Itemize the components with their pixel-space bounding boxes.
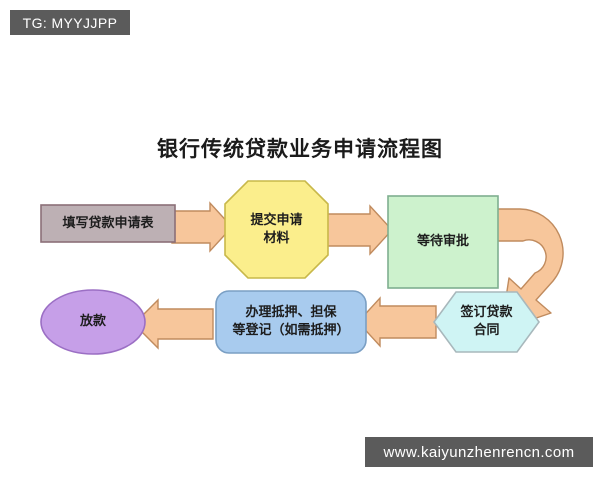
node-sign-contract[interactable]	[434, 292, 539, 352]
screenshot-root: 银行传统贷款业务申请流程图	[0, 0, 600, 480]
node-fill-form[interactable]	[41, 205, 175, 242]
tg-watermark-badge: TG: MYYJJPP	[10, 10, 130, 35]
site-watermark-badge: www.kaiyunzhenrencn.com	[365, 437, 593, 467]
arrow-2	[324, 206, 392, 254]
arrow-5	[134, 300, 213, 348]
arrow-4	[358, 298, 436, 346]
node-register-collateral[interactable]	[216, 291, 366, 353]
node-disburse-loan[interactable]	[41, 290, 145, 354]
flowchart-shape-layer	[0, 0, 600, 480]
node-submit-materials[interactable]	[225, 181, 328, 278]
node-await-approval[interactable]	[388, 196, 498, 288]
arrow-1	[172, 203, 232, 251]
flowchart-diagram: 银行传统贷款业务申请流程图	[0, 0, 600, 480]
